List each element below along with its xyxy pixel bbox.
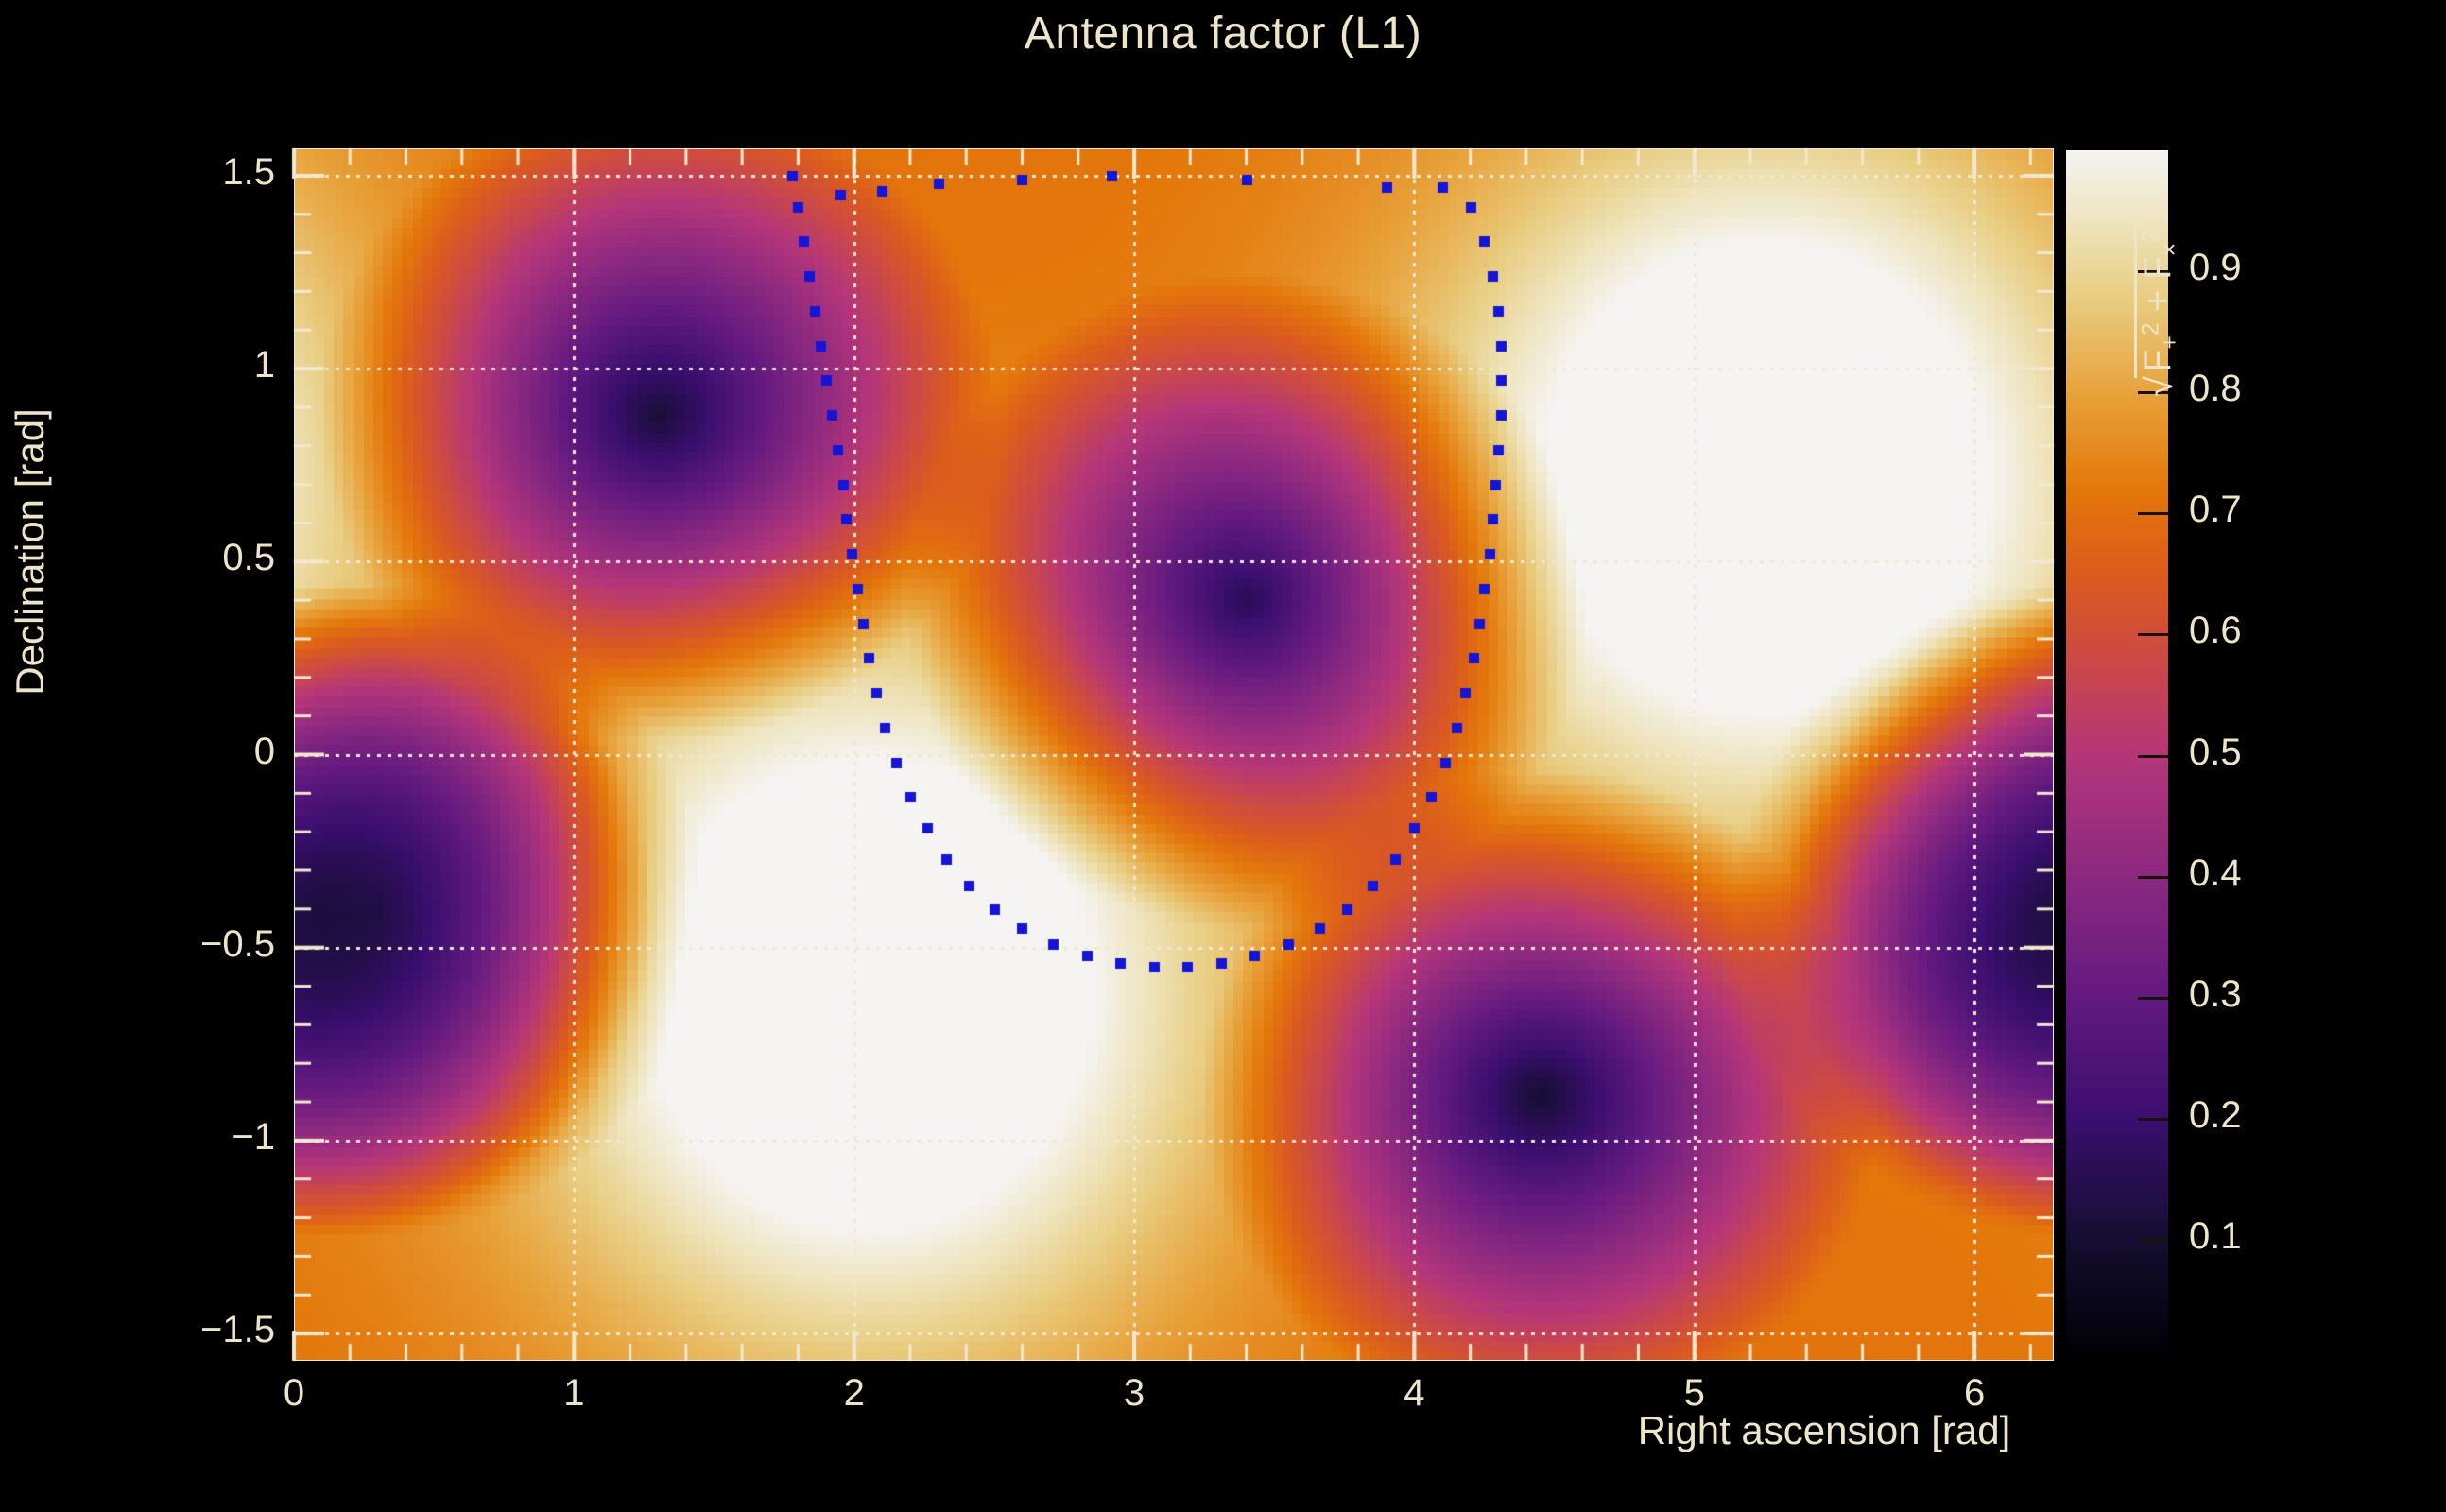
x-axis-tick-label: 2 bbox=[798, 1372, 911, 1415]
y-axis-tick-label: 1 bbox=[133, 344, 275, 387]
colorbar-tick-label: 0.7 bbox=[2189, 489, 2321, 531]
colorbar-tick-label: 0.3 bbox=[2189, 973, 2321, 1016]
colorbar-tick-label: 0.4 bbox=[2189, 852, 2321, 895]
colorbar-tick-label: 0.2 bbox=[2189, 1094, 2321, 1137]
radical-icon: √ bbox=[2139, 376, 2181, 397]
plot-canvas-root: Antenna factor (L1) −1.5−1−0.500.511.5 0… bbox=[0, 0, 2446, 1512]
colorbar-tick-label: 0.6 bbox=[2189, 610, 2321, 652]
colorbar-tick-label: 0.9 bbox=[2189, 247, 2321, 289]
colorbar-tick-label: 0.8 bbox=[2189, 368, 2321, 410]
y-axis-tick-label: 0.5 bbox=[133, 537, 275, 579]
plot-area bbox=[294, 148, 2054, 1361]
x-axis-tick-label: 4 bbox=[1357, 1372, 1471, 1415]
y-axis-tick-label: 0 bbox=[133, 730, 275, 773]
x-axis-tick-label: 1 bbox=[517, 1372, 630, 1415]
colorbar-tick-label: 0.5 bbox=[2189, 731, 2321, 774]
y-axis-label: Declination [rad] bbox=[8, 316, 53, 788]
y-axis-tick-label: −1 bbox=[133, 1116, 275, 1159]
radicand: F+2 + F×2 bbox=[2134, 226, 2183, 378]
y-axis-tick-label: −0.5 bbox=[133, 923, 275, 966]
colorbar-label-text: √F+2 + F×2 bbox=[2136, 57, 2185, 397]
x-axis-label: Right ascension [rad] bbox=[1541, 1408, 2108, 1453]
y-axis-tick-label: 1.5 bbox=[133, 151, 275, 194]
colorbar-tick-label: 0.1 bbox=[2189, 1215, 2321, 1258]
y-axis-tick-label: −1.5 bbox=[133, 1309, 275, 1351]
heatmap-image bbox=[294, 148, 2054, 1361]
colorbar-label: √F+2 + F×2 bbox=[2079, 0, 2420, 57]
x-axis-tick-label: 3 bbox=[1077, 1372, 1191, 1415]
x-axis-tick-label: 0 bbox=[237, 1372, 351, 1415]
